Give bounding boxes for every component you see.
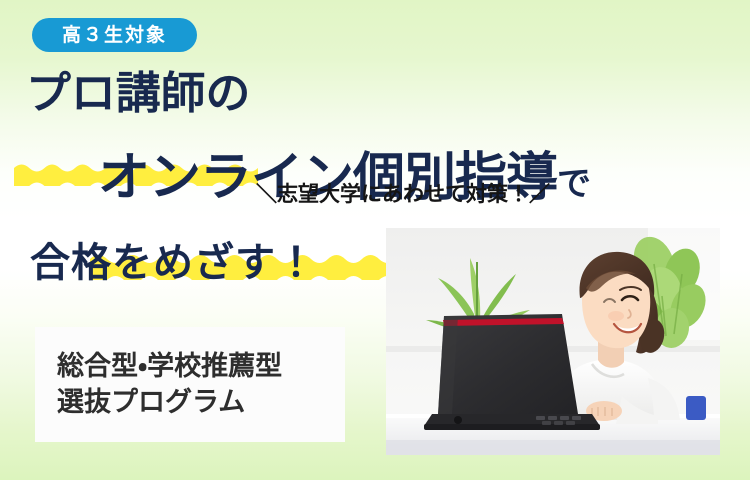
catch-copy: ＼志望大学にあわせて対策！／ [256,184,550,205]
target-audience-badge: 高３生対象 [32,18,197,52]
headline-line-1: プロ講師の [26,72,250,116]
headline-block: プロ講師の オンライン個別指導で ＼志望大学にあわせて対策！／ [0,64,750,224]
chair [686,396,706,420]
headline-line-2-suffix: で [557,167,591,201]
promo-banner: 高３生対象 プロ講師の オンライン個別指導で ＼志望大学にあわせて対策！／ 合格… [0,0,750,480]
student-photo [386,228,720,455]
program-box-line-2: 選抜プログラム [57,385,345,421]
program-box-line-1: 総合型・学校推薦型 [57,349,345,385]
student-photo-illustration [386,228,720,455]
target-audience-badge-label: 高３生対象 [62,26,167,45]
program-box: 総合型・学校推薦型 選抜プログラム [35,327,345,442]
sub-headline: 合格をめざす！ [30,243,317,283]
